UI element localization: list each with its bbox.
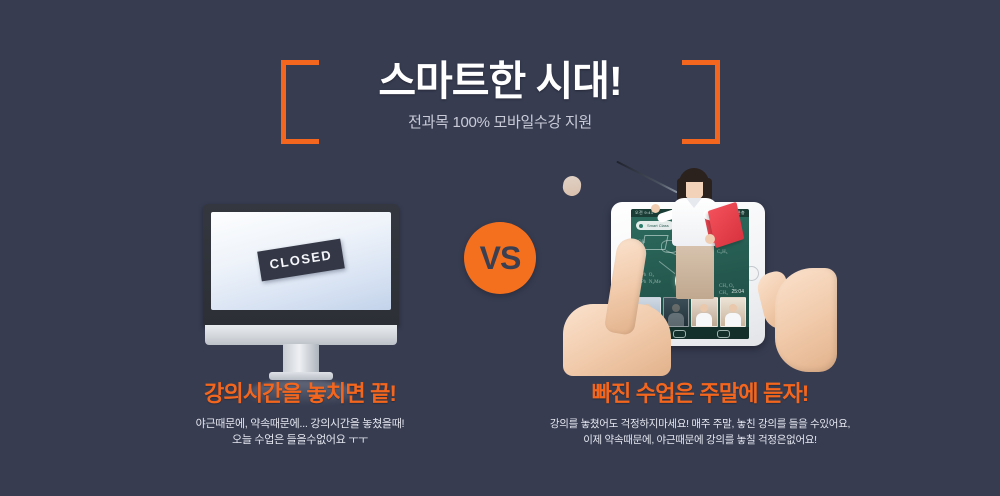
avatar-body-icon	[725, 313, 741, 326]
left-body-line2: 오늘 수업은 들을수없어요 ㅜㅜ	[135, 432, 465, 448]
left-heading: 강의시간을 놓치면 끝!	[135, 380, 465, 408]
avatar-body-icon	[696, 313, 712, 326]
right-heading: 빠진 수업은 주말에 듣자!	[520, 380, 880, 408]
finger-nail	[562, 175, 583, 198]
monitor-chin	[205, 325, 397, 345]
teacher-left-hand	[651, 204, 660, 213]
left-body: 야근때문에, 약속때문에... 강의시간을 놓쳤을때! 오늘 수업은 들을수없어…	[135, 416, 465, 448]
vs-label: VS	[464, 222, 536, 294]
banner-header: 스마트한 시대! 전과목 100% 모바일수강 지원	[0, 52, 1000, 148]
monitor-base	[269, 372, 333, 380]
monitor-visual: CLOSED	[135, 180, 465, 365]
closed-sign: CLOSED	[257, 239, 345, 282]
chalkboard-text-2: Ph O₃ Ph N₂Me	[641, 272, 661, 286]
tablet-with-hands: 오전 9:41 배터리 완충 Smart Class OH Ph O₃ Ph N…	[563, 176, 843, 376]
monitor-neck	[283, 344, 319, 374]
right-body: 강의를 놓쳤어도 걱정하지마세요! 매주 주말, 놓친 강의를 들을 수있어요,…	[520, 416, 880, 448]
chat-icon[interactable]	[673, 330, 686, 338]
promo-banner: 스마트한 시대! 전과목 100% 모바일수강 지원 CLOSED 강	[0, 0, 1000, 496]
left-body-line1: 야근때문에, 약속때문에... 강의시간을 놓쳤을때!	[135, 416, 465, 432]
right-hand-palm	[775, 268, 837, 372]
teacher-skirt	[676, 244, 714, 299]
teacher-right-hand	[705, 234, 715, 244]
avatar-body-icon	[668, 313, 684, 326]
comparison-right: 오전 9:41 배터리 완충 Smart Class OH Ph O₃ Ph N…	[535, 180, 865, 480]
closed-sign-label: CLOSED	[257, 239, 345, 282]
pointer-stick-icon	[616, 161, 677, 194]
right-body-line1: 강의를 놓쳤어도 걱정하지마세요! 매주 주말, 놓친 강의를 들을 수있어요,	[520, 416, 880, 432]
monitor-screen: CLOSED	[211, 212, 391, 310]
desktop-monitor-icon: CLOSED	[203, 204, 399, 354]
page-title: 스마트한 시대!	[0, 56, 1000, 106]
tablet-visual: 오전 9:41 배터리 완충 Smart Class OH Ph O₃ Ph N…	[535, 180, 865, 365]
vs-badge: VS	[464, 222, 536, 294]
status-time: 오전 9:41	[635, 210, 653, 216]
teacher-figure	[659, 168, 745, 310]
comparison-left: CLOSED 강의시간을 놓치면 끝! 야근때문에, 약속때문에... 강의시간…	[135, 180, 465, 480]
left-caption: 강의시간을 놓치면 끝! 야근때문에, 약속때문에... 강의시간을 놓쳤을때!…	[135, 380, 465, 448]
monitor-bezel: CLOSED	[203, 204, 399, 326]
page-subtitle: 전과목 100% 모바일수강 지원	[0, 112, 1000, 134]
video-icon[interactable]	[717, 330, 730, 338]
right-body-line2: 이제 약속때문에, 야근때문에 강의를 놓칠 걱정은없어요!	[520, 432, 880, 448]
right-caption: 빠진 수업은 주말에 듣자! 강의를 놓쳤어도 걱정하지마세요! 매주 주말, …	[520, 380, 880, 448]
